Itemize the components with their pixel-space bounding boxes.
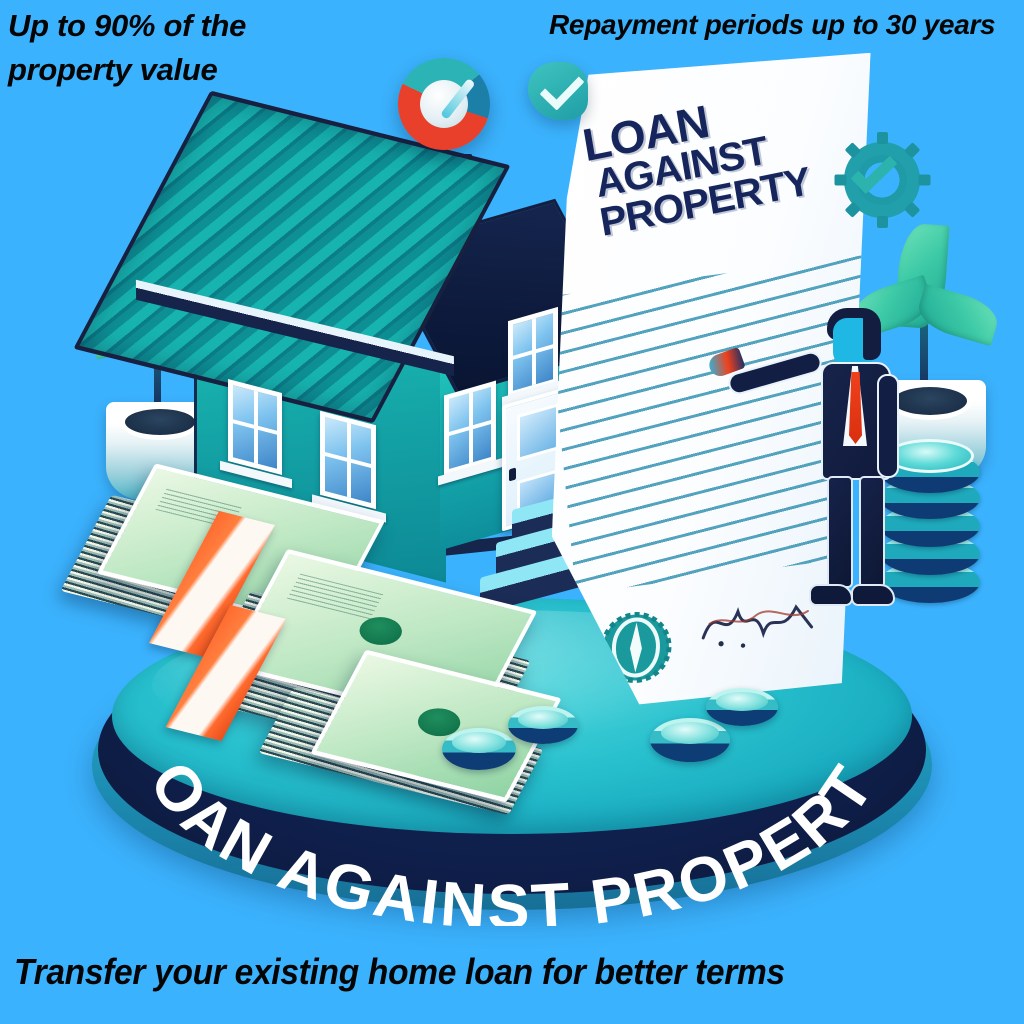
caption-top-right: Repayment periods up to 30 years <box>549 4 1019 46</box>
document-title: LOAN AGAINST PROPERTY <box>580 70 867 242</box>
loose-coin <box>706 688 778 726</box>
banknote-seal <box>354 613 408 649</box>
banknote-detail <box>288 574 383 619</box>
businessman-presenter <box>795 300 925 660</box>
hair-side <box>863 318 881 360</box>
shoe <box>851 584 895 606</box>
gear-tooth <box>919 175 931 186</box>
necktie <box>849 372 862 444</box>
infographic-canvas: LOAN AGAINST PROPERTY <box>0 0 1024 1024</box>
leg <box>827 476 853 588</box>
gear-tooth <box>877 132 888 144</box>
gear-check-icon <box>838 136 926 224</box>
caption-bottom: Transfer your existing home loan for bet… <box>14 954 944 990</box>
resting-arm <box>877 374 899 478</box>
gear-tooth <box>877 216 888 228</box>
speedometer-gauge-icon <box>398 58 490 150</box>
gear-tooth <box>835 175 847 186</box>
shoe <box>809 584 853 606</box>
loose-coin <box>442 728 516 770</box>
leg <box>859 476 885 588</box>
loose-coin <box>650 718 730 762</box>
loose-coin <box>508 706 578 744</box>
check-badge-icon <box>528 62 588 120</box>
caption-top-left: Up to 90% of the property value <box>8 4 348 92</box>
house-window <box>228 379 282 475</box>
door-pane-upper <box>517 403 559 461</box>
